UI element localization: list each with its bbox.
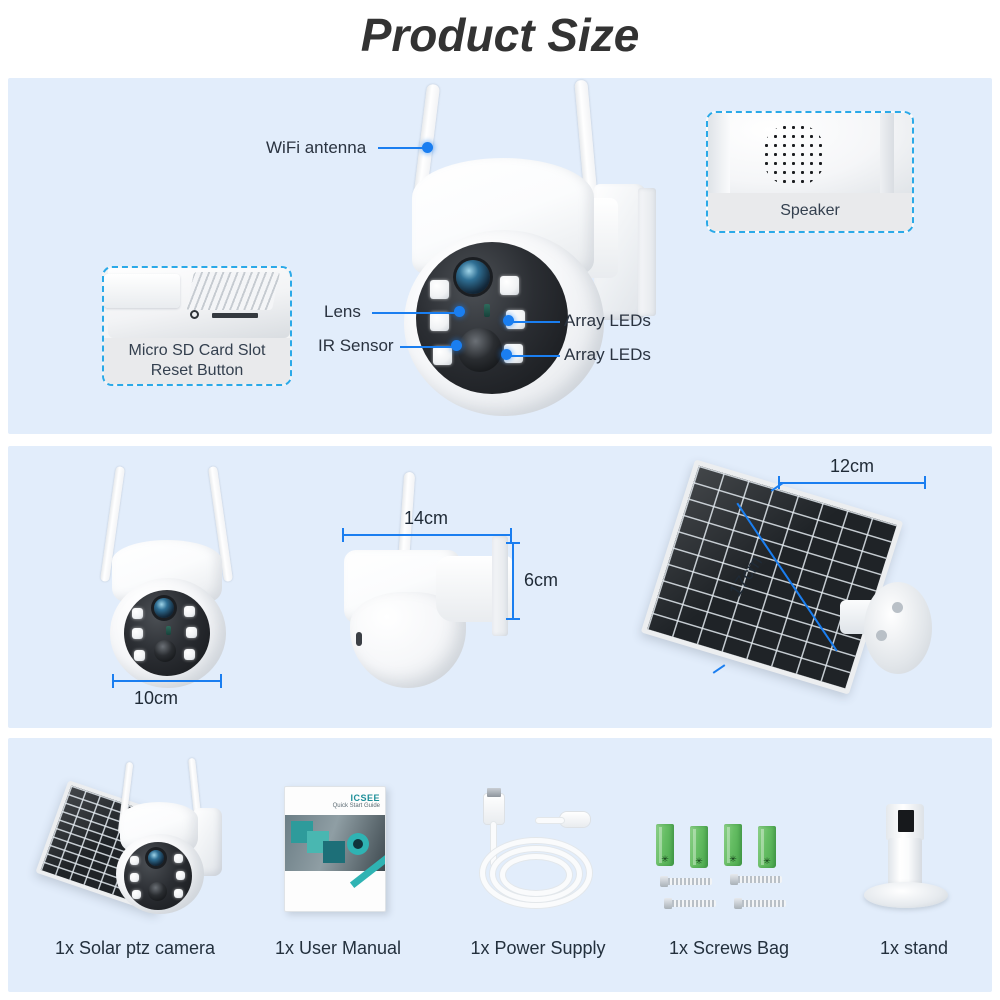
sd-caption-line2: Reset Button: [104, 361, 290, 381]
dim-line-solar-width: [778, 482, 926, 484]
callout-sd-card-slot: Micro SD Card Slot Reset Button: [102, 266, 292, 386]
screw-head-1: [660, 876, 668, 887]
anchor-star-3: ✳: [729, 855, 737, 864]
label-ir-sensor: IR Sensor: [318, 336, 394, 356]
screw-3: [670, 900, 716, 907]
package-label-user-manual: 1x User Manual: [258, 938, 418, 959]
leader-dot-array-leds-top: [503, 315, 514, 326]
dim-label-camera-depth: 14cm: [404, 508, 448, 529]
package-label-solar-camera: 1x Solar ptz camera: [20, 938, 250, 959]
wall-anchor-2: ✳: [690, 826, 708, 868]
side-wall-plate: [492, 536, 508, 636]
bundle-secondary-lens: [148, 882, 167, 901]
bundle-led-2: [130, 873, 139, 882]
dimensions-panel: 10cm 14cm 6cm 12cm 17cm: [8, 446, 992, 728]
solar-cells: [641, 459, 904, 694]
front-main-lens: [154, 598, 174, 618]
package-item-power-supply: [464, 786, 614, 912]
dim-line-camera-width: [112, 680, 222, 682]
stand-base: [864, 882, 948, 908]
bundle-main-lens: [148, 850, 164, 866]
camera-front-view: [88, 460, 248, 680]
led-1: [430, 280, 449, 299]
dim-tick-camera-depth-left: [342, 528, 344, 542]
screw-2: [736, 876, 782, 883]
bracket-wall-plate: [638, 188, 656, 316]
dim-tick-camera-width-right: [220, 674, 222, 688]
wall-anchor-4: ✳: [758, 826, 776, 868]
screw-head-3: [664, 898, 672, 909]
front-led-1: [132, 608, 143, 619]
led-4: [500, 276, 519, 295]
package-item-screws-bag: ✳ ✳ ✳ ✳: [652, 824, 812, 920]
sd-caption-line1: Micro SD Card Slot: [104, 341, 290, 361]
dim-tick-camera-height-top: [506, 542, 520, 544]
booklet-icon: ICSEE Quick Start Guide: [284, 786, 386, 912]
dim-line-camera-depth: [342, 534, 512, 536]
dim-label-camera-width: 10cm: [134, 688, 178, 709]
led-3: [433, 346, 452, 365]
booklet-subtitle: Quick Start Guide: [333, 803, 380, 809]
package-label-power-supply: 1x Power Supply: [448, 938, 628, 959]
bundle-led-4: [174, 854, 183, 863]
front-led-4: [184, 606, 195, 617]
package-item-user-manual: ICSEE Quick Start Guide: [278, 786, 396, 912]
callout-caption-speaker: Speaker: [708, 193, 912, 231]
speaker-caption: Speaker: [708, 201, 912, 221]
cable-dc-plug: [560, 812, 590, 827]
sd-card-slot-icon: [104, 268, 290, 342]
front-led-2: [132, 628, 143, 639]
side-screw-1: [356, 632, 362, 646]
bundle-led-5: [176, 871, 185, 880]
leader-lens: [372, 312, 458, 314]
bundle-led-6: [174, 889, 183, 898]
booklet-brand: ICSEE Quick Start Guide: [333, 793, 380, 809]
cable-coil-inner: [500, 854, 572, 896]
solar-panel-illustration: [668, 472, 958, 692]
label-array-leds-top: Array LEDs: [564, 311, 651, 331]
solar-mount-base: [864, 582, 932, 674]
label-array-leds-bottom: Array LEDs: [564, 345, 651, 365]
leader-array-leds-bottom: [506, 355, 560, 357]
label-lens: Lens: [324, 302, 361, 322]
anchor-star-2: ✳: [695, 857, 703, 866]
front-secondary-lens: [154, 640, 176, 662]
dim-tick-camera-depth-right: [510, 528, 512, 542]
dim-tick-camera-height-bottom: [506, 618, 520, 620]
solar-grid: [647, 466, 897, 689]
leader-dot-lens: [454, 306, 465, 317]
screw-head-4: [734, 898, 742, 909]
speaker-grille-icon: [708, 113, 912, 197]
front-status-led: [166, 626, 171, 635]
label-wifi-antenna: WiFi antenna: [266, 138, 366, 158]
page-title: Product Size: [0, 8, 1000, 62]
screw-1: [666, 878, 712, 885]
leader-dot-ir-sensor: [451, 340, 462, 351]
package-label-screws-bag: 1x Screws Bag: [644, 938, 814, 959]
wall-anchor-1: ✳: [656, 824, 674, 866]
screw-head-2: [730, 874, 738, 885]
callout-caption-sd: Micro SD Card Slot Reset Button: [104, 338, 290, 384]
features-panel: WiFi antenna Lens IR Sensor Array LEDs A…: [8, 78, 992, 434]
screw-4: [740, 900, 786, 907]
bundle-camera: [98, 758, 228, 908]
package-item-stand: [860, 804, 970, 914]
callout-speaker: Speaker: [706, 111, 914, 233]
booklet-eye-icon: [347, 833, 369, 855]
booklet-brand-name: ICSEE: [333, 793, 380, 803]
booklet-tile-3: [323, 841, 345, 863]
dim-tick-solar-width-right: [924, 476, 926, 489]
leader-wifi-antenna: [378, 147, 426, 149]
leader-dot-array-leds-bottom: [501, 349, 512, 360]
leader-dot-wifi-antenna: [422, 142, 433, 153]
dim-label-camera-height: 6cm: [524, 570, 558, 591]
stand-slot: [898, 810, 914, 832]
main-lens: [456, 260, 490, 294]
dim-line-camera-height: [512, 542, 514, 620]
bundle-led-1: [130, 856, 139, 865]
anchor-star-1: ✳: [661, 855, 669, 864]
led-2: [430, 312, 449, 331]
package-panel: 1x Solar ptz camera ICSEE Quick Start Gu…: [8, 738, 992, 992]
wall-anchor-3: ✳: [724, 824, 742, 866]
dim-tick-camera-width-left: [112, 674, 114, 688]
front-led-6: [184, 649, 195, 660]
solar-mount-hole-1: [892, 602, 903, 613]
front-led-3: [134, 650, 145, 661]
package-label-stand: 1x stand: [854, 938, 974, 959]
anchor-star-4: ✳: [763, 857, 771, 866]
leader-ir-sensor: [400, 346, 456, 348]
leader-array-leds-top: [508, 321, 560, 323]
bundle-led-3: [132, 890, 141, 899]
cable-usb-plug: [484, 794, 504, 824]
dim-label-solar-width: 12cm: [830, 456, 874, 477]
cable-usb-contacts: [487, 788, 501, 797]
secondary-lens: [458, 328, 502, 372]
camera-side-view: [334, 464, 534, 684]
cable-lead-right: [536, 818, 564, 823]
camera-illustration-front: [308, 80, 688, 416]
status-led: [484, 304, 490, 317]
solar-mount-hole-2: [876, 630, 887, 641]
front-led-5: [186, 627, 197, 638]
package-item-solar-camera: [30, 758, 240, 908]
